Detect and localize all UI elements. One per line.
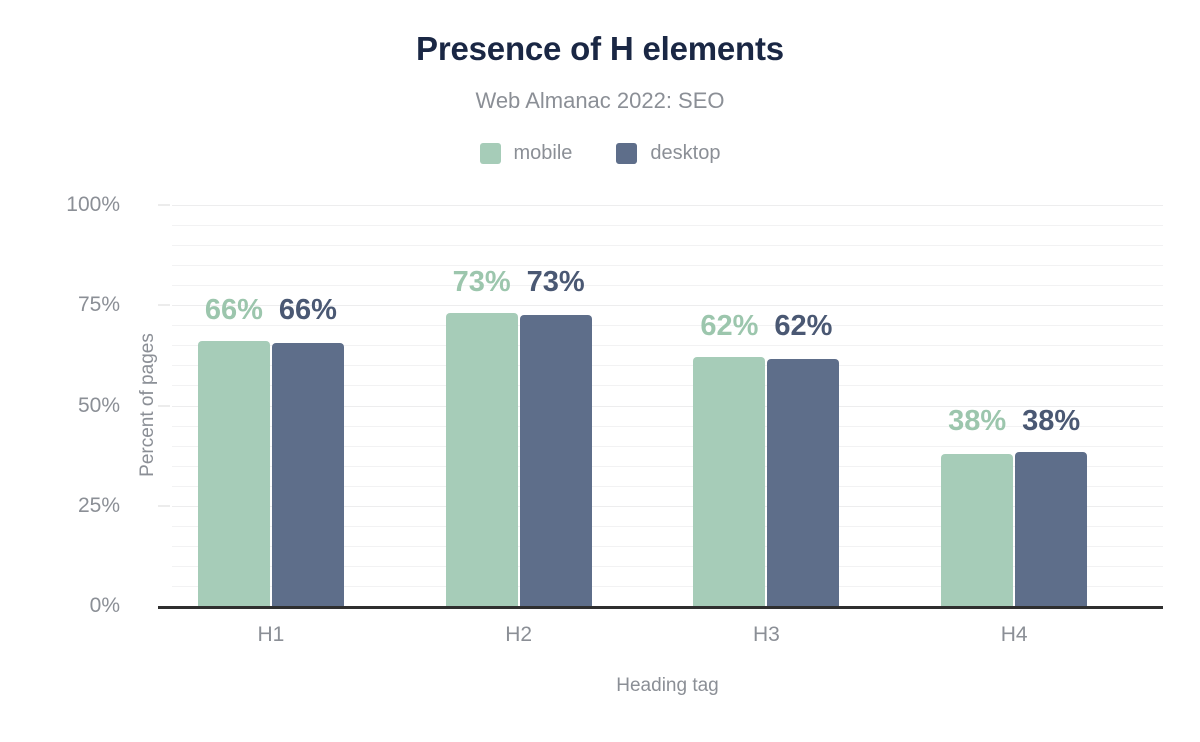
- bar-H3-desktop[interactable]: [767, 359, 839, 606]
- data-label-H2-desktop: 73%: [527, 266, 585, 299]
- legend-swatch-mobile: [480, 143, 501, 164]
- legend-item-mobile[interactable]: mobile: [480, 142, 573, 165]
- y-axis-tick-label: 50%: [0, 394, 120, 418]
- bar-H2-desktop[interactable]: [520, 315, 592, 606]
- bar-H3-mobile[interactable]: [693, 357, 765, 606]
- y-axis-tick-label: 75%: [0, 293, 120, 317]
- x-axis-line: [158, 606, 1163, 609]
- legend-item-desktop[interactable]: desktop: [616, 142, 720, 165]
- x-axis-tick-label-H3: H3: [753, 623, 780, 647]
- legend-label-desktop: desktop: [650, 142, 720, 165]
- bar-H4-mobile[interactable]: [941, 454, 1013, 606]
- y-axis-tick-mark: [158, 205, 170, 206]
- data-label-H3-desktop: 62%: [774, 310, 832, 343]
- bar-H1-mobile[interactable]: [198, 341, 270, 606]
- chart-legend: mobiledesktop: [0, 142, 1200, 165]
- y-axis-tick-mark: [158, 405, 170, 406]
- data-label-H1-desktop: 66%: [279, 294, 337, 327]
- x-axis-tick-label-H4: H4: [1001, 623, 1028, 647]
- data-label-H4-desktop: 38%: [1022, 405, 1080, 438]
- legend-swatch-desktop: [616, 143, 637, 164]
- y-axis-tick-mark: [158, 305, 170, 306]
- chart-title: Presence of H elements: [0, 30, 1200, 68]
- x-axis-tick-label-H2: H2: [505, 623, 532, 647]
- bar-H1-desktop[interactable]: [272, 343, 344, 606]
- data-label-H2-mobile: 73%: [453, 266, 511, 299]
- x-axis-tick-label-H1: H1: [257, 623, 284, 647]
- y-axis-tick-label: 25%: [0, 494, 120, 518]
- data-label-H3-mobile: 62%: [700, 310, 758, 343]
- data-label-H1-mobile: 66%: [205, 294, 263, 327]
- y-axis-title: Percent of pages: [137, 333, 159, 477]
- y-axis-tick-label: 0%: [0, 594, 120, 618]
- chart-subtitle: Web Almanac 2022: SEO: [0, 88, 1200, 114]
- bar-H4-desktop[interactable]: [1015, 452, 1087, 606]
- y-axis-tick-mark: [158, 505, 170, 506]
- plot-area: Percent of pages 0%25%50%75%100% 66%66%7…: [172, 205, 1163, 606]
- gridline: [172, 265, 1163, 266]
- gridline: [172, 205, 1163, 206]
- gridline: [172, 225, 1163, 226]
- y-axis-tick-label: 100%: [0, 193, 120, 217]
- gridline: [172, 245, 1163, 246]
- data-label-H4-mobile: 38%: [948, 405, 1006, 438]
- chart-container: Presence of H elements Web Almanac 2022:…: [0, 0, 1200, 742]
- legend-label-mobile: mobile: [514, 142, 573, 165]
- x-axis-title: Heading tag: [172, 675, 1163, 697]
- bar-H2-mobile[interactable]: [446, 313, 518, 606]
- gridline: [172, 285, 1163, 286]
